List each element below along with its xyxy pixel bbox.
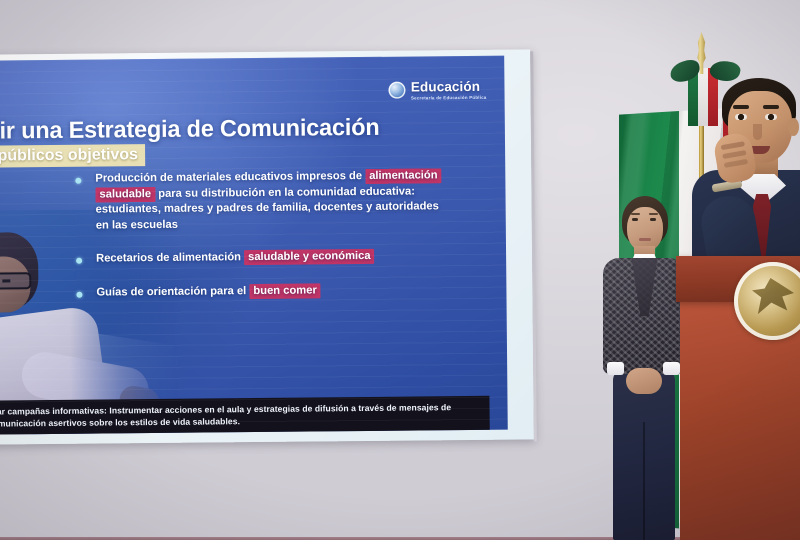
slide-bullet-list: Producción de materiales educativos impr… <box>73 168 454 314</box>
presentation-slide: Educación Secretaría de Educación Públic… <box>0 56 508 435</box>
woman-clasped-hands <box>626 368 662 394</box>
speaker-eyebrow-left <box>733 105 749 109</box>
woman-eyebrow-left <box>631 213 640 215</box>
sep-logo-subtitle: Secretaría de Educación Pública <box>411 95 487 100</box>
speaker-eye-right <box>765 114 777 120</box>
slide-subtitle: ara públicos objetivos <box>0 146 145 166</box>
bullet-text: Recetarios de alimentación saludable y e… <box>96 249 454 268</box>
bullet-item: Producción de materiales educativos impr… <box>73 168 454 234</box>
slide-subtitle-highlight: ara públicos objetivos <box>0 144 145 168</box>
slide-title: mitir una Estrategia de Comunicación <box>0 114 380 145</box>
bullet-dot-icon <box>76 292 82 298</box>
bullet-dot-icon <box>76 258 82 264</box>
speaker-nose <box>753 124 762 140</box>
bullet-text: Guías de orientación para el buen comer <box>96 282 454 301</box>
speaker-ear <box>788 118 799 136</box>
woman-mouth <box>639 238 651 241</box>
bullet-text-pre: Recetarios de alimentación <box>96 252 244 265</box>
press-conference-scene: Educación Secretaría de Educación Públic… <box>0 0 800 540</box>
sep-seal-icon <box>389 82 406 99</box>
woman-eye-left <box>632 218 638 221</box>
woman-cuff-left <box>607 362 624 375</box>
woman-eyebrow-right <box>649 213 658 215</box>
sep-logo-title: Educación <box>411 80 487 94</box>
bullet-text-pre: Guías de orientación para el <box>96 285 249 298</box>
glasses-icon <box>0 272 31 290</box>
woman-eye-right <box>650 218 656 221</box>
podium <box>676 256 800 540</box>
bullet-highlight: saludable y económica <box>244 249 375 265</box>
projection-screen: Educación Secretaría de Educación Públic… <box>0 49 534 444</box>
bullet-text-pre: Producción de materiales educativos impr… <box>95 170 365 185</box>
bullet-dot-icon <box>75 178 81 184</box>
flag-bow-left <box>668 58 702 84</box>
bullet-highlight: buen comer <box>249 283 321 299</box>
slide-caption-band: lizar campañas informativas: Instrumenta… <box>0 396 490 435</box>
woman-trousers <box>613 370 675 540</box>
sep-logo-text: Educación Secretaría de Educación Públic… <box>411 80 487 101</box>
slide-caption-text: lizar campañas informativas: Instrumenta… <box>0 401 480 431</box>
bullet-text: Producción de materiales educativos impr… <box>95 168 454 234</box>
sep-logo: Educación Secretaría de Educación Públic… <box>389 80 487 101</box>
bullet-item: Recetarios de alimentación saludable y e… <box>74 249 454 268</box>
speaker-eyebrow-right <box>763 105 779 109</box>
bullet-item: Guías de orientación para el buen comer <box>74 282 454 301</box>
speaker-eye-left <box>735 114 747 120</box>
